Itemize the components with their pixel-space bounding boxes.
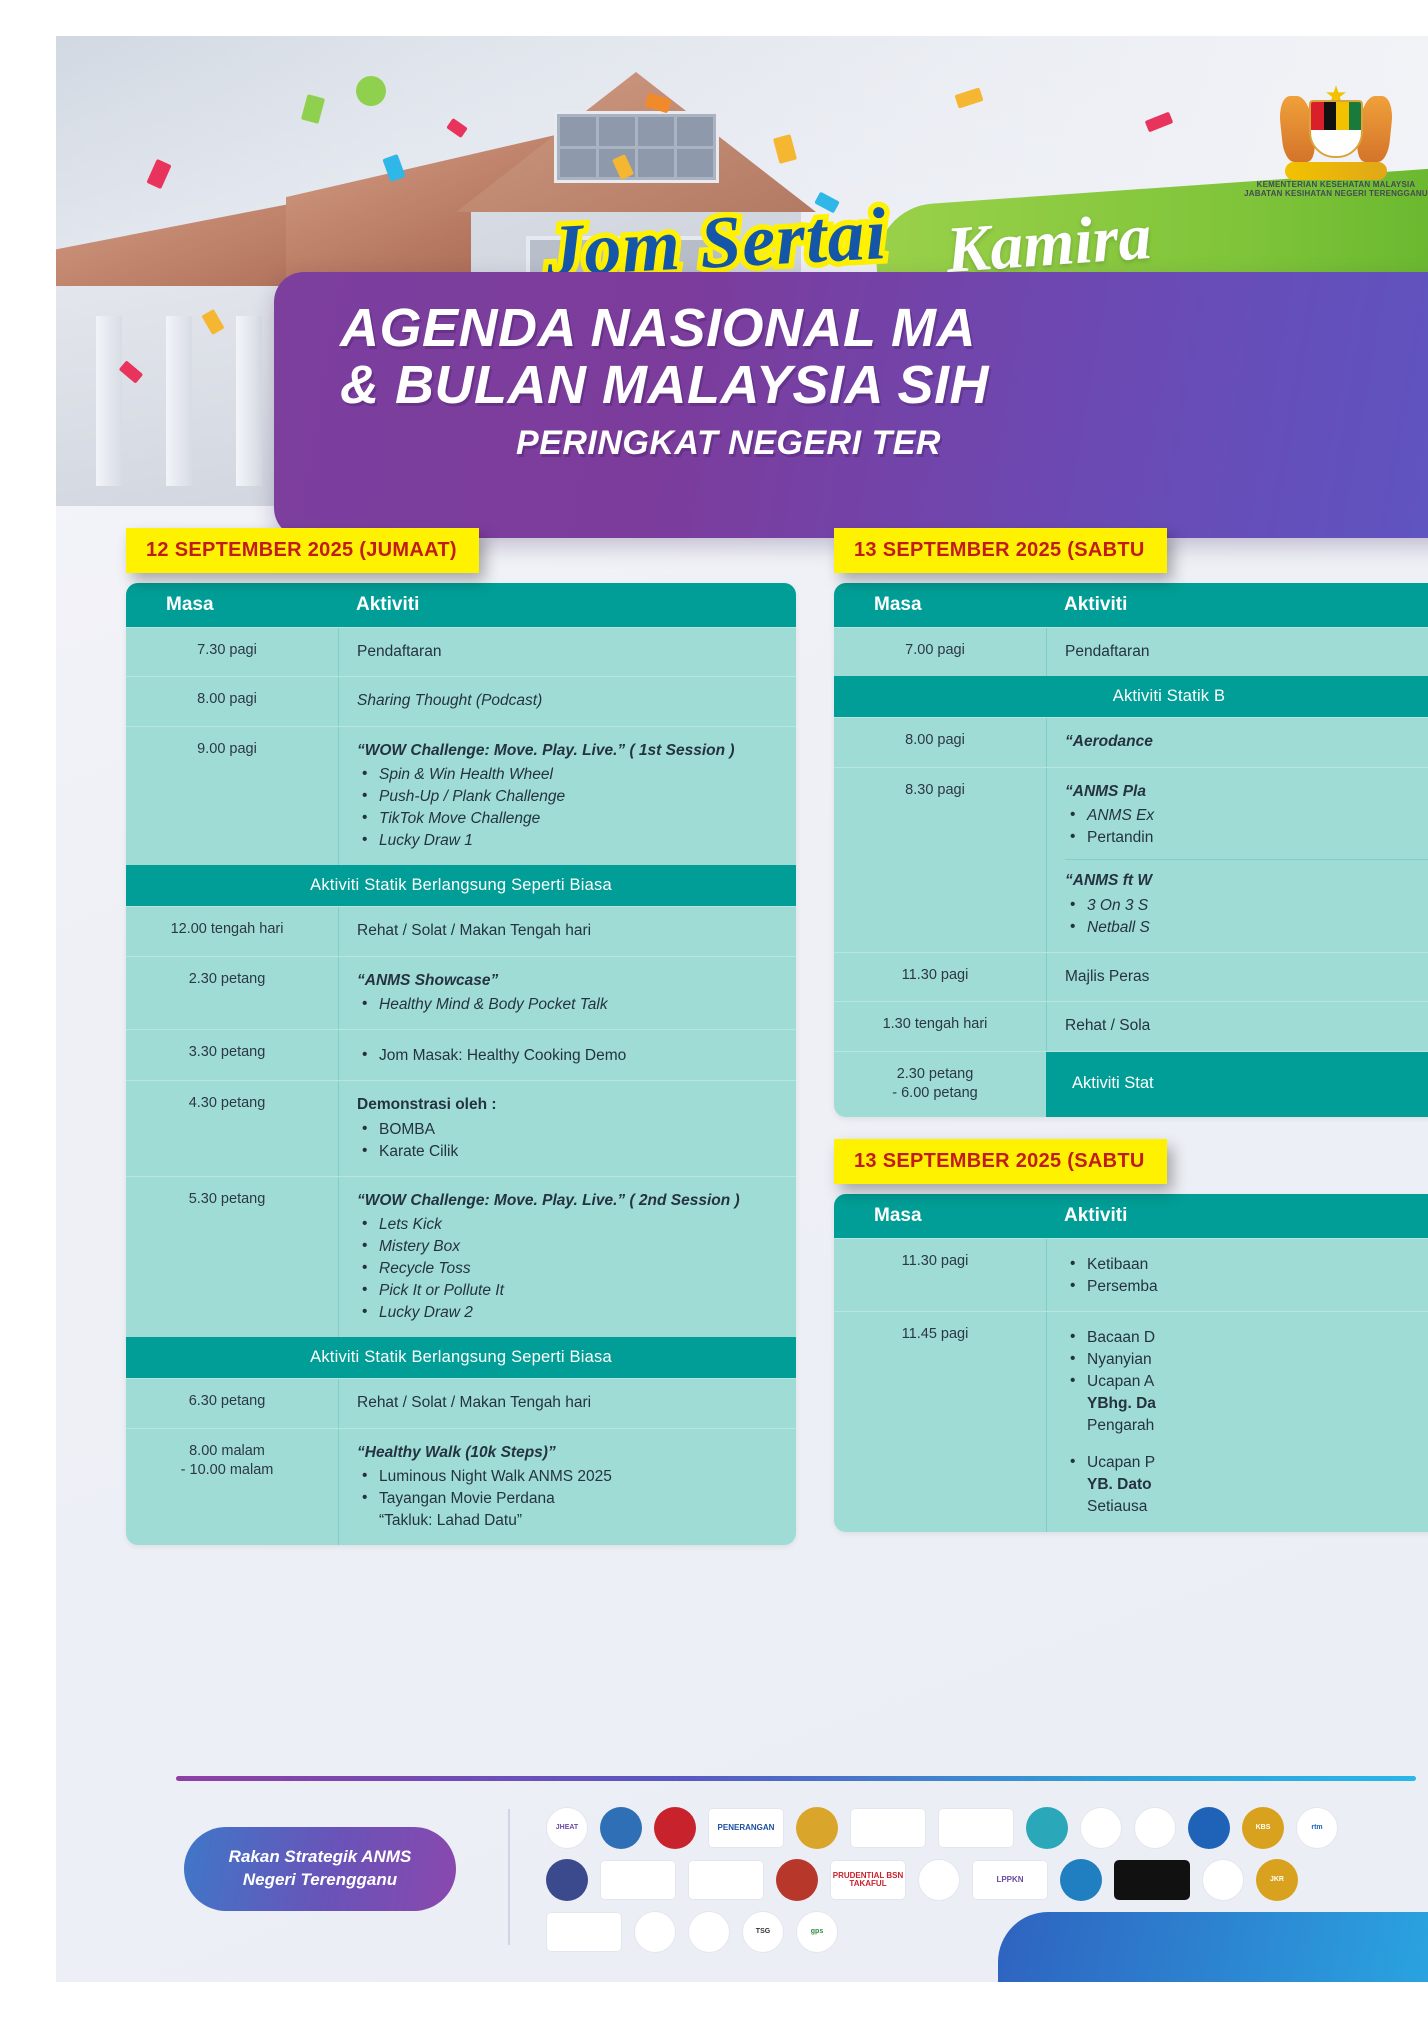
confetti-piece [954, 87, 983, 108]
cell-time: 1.30 tengah hari [834, 1002, 1046, 1050]
confetti-piece [146, 159, 171, 189]
list-item: TikTok Move Challenge [357, 808, 782, 830]
cell-time: 7.00 pagi [834, 628, 1046, 676]
partners-label-line1: Rakan Strategik ANMS [229, 1847, 412, 1866]
cell-activity: “WOW Challenge: Move. Play. Live.” ( 2nd… [338, 1177, 796, 1337]
table-row: 11.45 pagi Bacaan D Nyanyian Ucapan A YB… [834, 1311, 1428, 1532]
blue-swirl-logo [1188, 1807, 1230, 1849]
table-row: 7.30 pagi Pendaftaran [126, 627, 796, 676]
jata-negara-icon: ★ [1277, 82, 1395, 180]
cell-time: 2.30 petang [126, 957, 338, 1029]
day2b-schedule-table: Masa Aktiviti 11.30 pagi Ketibaan Persem… [834, 1194, 1428, 1532]
column-header-activity: Aktiviti [1046, 1194, 1428, 1238]
jkm-logo [688, 1860, 764, 1900]
list-item: BOMBA [357, 1119, 782, 1141]
negeri-logo [600, 1807, 642, 1849]
cell-activity: “ANMS Showcase” Healthy Mind & Body Pock… [338, 957, 796, 1029]
tsg-logo: TSG [742, 1911, 784, 1953]
activity-title: Rehat / Solat / Makan Tengah hari [357, 922, 591, 939]
divider-line [1065, 859, 1428, 860]
event-title-line2: & BULAN MALAYSIA SIH [340, 357, 1428, 414]
activity-bullet-list: Jom Masak: Healthy Cooking Demo [357, 1045, 782, 1067]
cell-activity: Bacaan D Nyanyian Ucapan A YBhg. Da Peng… [1046, 1312, 1428, 1532]
cell-activity: Rehat / Solat / Makan Tengah hari [338, 907, 796, 955]
list-item: Lucky Draw 1 [357, 830, 782, 852]
list-item: Bacaan D [1065, 1327, 1428, 1349]
activity-title: Demonstrasi oleh : [357, 1094, 782, 1116]
list-item: Push-Up / Plank Challenge [357, 786, 782, 808]
cell-time: 8.00 pagi [126, 677, 338, 725]
cell-time: 8.00 pagi [834, 718, 1046, 766]
table-header-row: Masa Aktiviti [834, 1194, 1428, 1238]
list-item: Luminous Night Walk ANMS 2025 [357, 1466, 782, 1488]
ministry-name-line1: KEMENTERIAN KESEHATAN MALAYSIA [1236, 180, 1428, 189]
column-header-time: Masa [126, 583, 338, 627]
static-activity-band: Aktiviti Statik Berlangsung Seperti Bias… [126, 1337, 796, 1378]
red-crest-logo [654, 1807, 696, 1849]
activity-title: Majlis Peras [1065, 968, 1149, 985]
ministry-name-line2: JABATAN KESIHATAN NEGERI TERENGGANU [1236, 189, 1428, 198]
cell-time: 11.45 pagi [834, 1312, 1046, 1532]
table-row: 11.30 pagi Majlis Peras [834, 952, 1428, 1001]
cell-time: 9.00 pagi [126, 727, 338, 865]
gold-shield-logo [1202, 1859, 1244, 1901]
list-item: Nyanyian [1065, 1349, 1428, 1371]
table-header-row: Masa Aktiviti [834, 583, 1428, 627]
cell-activity: “ANMS Pla ANMS Ex Pertandin “ANMS ft W 3… [1046, 768, 1428, 952]
activity-bullet-list-secondary: 3 On 3 S Netball S [1065, 895, 1428, 939]
polis-logo [546, 1859, 588, 1901]
activity-bullet-list: Healthy Mind & Body Pocket Talk [357, 994, 782, 1016]
activity-bullet-list: BOMBA Karate Cilik [357, 1119, 782, 1163]
majlis-logo [1080, 1807, 1122, 1849]
list-item: Healthy Mind & Body Pocket Talk [357, 994, 782, 1016]
gps-logo: gps [796, 1911, 838, 1953]
list-item: ANMS Ex [1065, 805, 1428, 827]
footer-vertical-rule [508, 1809, 510, 1945]
table-row: 4.30 petang Demonstrasi oleh : BOMBA Kar… [126, 1080, 796, 1175]
cell-time: 8.30 pagi [834, 768, 1046, 952]
poster-root: Kamira Jom Sertai ★ KEMENTERIAN KESEHATA… [56, 36, 1428, 1982]
cell-activity: Pendaftaran [1046, 628, 1428, 676]
kbs-logo: KBS [1242, 1807, 1284, 1849]
jabatan-penerangan-logo: PENERANGAN [708, 1808, 784, 1848]
footer-divider [176, 1776, 1416, 1781]
cycling-logo [688, 1911, 730, 1953]
teal-ring-logo [1026, 1807, 1068, 1849]
activity-bullet-list-2: Ucapan P [1065, 1452, 1428, 1474]
gold-crest-logo [796, 1807, 838, 1849]
day2-schedule-table: Masa Aktiviti 7.00 pagi Pendaftaran Akti… [834, 583, 1428, 1117]
table-row: 6.30 petang Rehat / Solat / Makan Tengah… [126, 1378, 796, 1427]
cell-time: 3.30 petang [126, 1030, 338, 1080]
activity-title-secondary: “ANMS ft W [1065, 870, 1428, 892]
building-pillar [166, 316, 192, 486]
list-item: Lucky Draw 2 [357, 1302, 782, 1324]
column-header-activity: Aktiviti [1046, 583, 1428, 627]
cell-activity: Jom Masak: Healthy Cooking Demo [338, 1030, 796, 1080]
list-item: Recycle Toss [357, 1258, 782, 1280]
day1-schedule-table: Masa Aktiviti 7.30 pagi Pendaftaran 8.00… [126, 583, 796, 1545]
cell-activity: Rehat / Solat / Makan Tengah hari [338, 1379, 796, 1427]
cell-time: 11.30 pagi [834, 1239, 1046, 1311]
list-item: 3 On 3 S [1065, 895, 1428, 917]
cell-time: 7.30 pagi [126, 628, 338, 676]
event-title-line1: AGENDA NASIONAL MA [340, 300, 1428, 357]
cell-activity-band: Aktiviti Stat [1046, 1052, 1428, 1117]
table-row: 8.30 pagi “ANMS Pla ANMS Ex Pertandin “A… [834, 767, 1428, 952]
confetti-piece [301, 94, 325, 124]
list-item: Ucapan P [1065, 1452, 1428, 1474]
column-header-time: Masa [834, 583, 1046, 627]
partners-label-pill: Rakan Strategik ANMS Negeri Terengganu [184, 1827, 456, 1911]
activity-bullet-list: Ketibaan Persemba [1065, 1254, 1428, 1298]
arabic-black-logo [1114, 1860, 1190, 1900]
ribbon-icon [1285, 162, 1387, 180]
cell-activity: “Aerodance [1046, 718, 1428, 766]
day2b-date-chip: 13 SEPTEMBER 2025 (SABTU [834, 1139, 1167, 1184]
speaker-name-1: YBhg. Da [1087, 1393, 1428, 1415]
ministry-crest-block: ★ KEMENTERIAN KESEHATAN MALAYSIA JABATAN… [1236, 82, 1428, 198]
list-item: Pick It or Pollute It [357, 1280, 782, 1302]
speaker-title-2: Setiausa [1087, 1496, 1428, 1518]
confetti-piece [1145, 112, 1174, 133]
cell-activity: Ketibaan Persemba [1046, 1239, 1428, 1311]
jkr-logo: JKR [1256, 1859, 1298, 1901]
cell-time: 4.30 petang [126, 1081, 338, 1175]
activity-title: Rehat / Solat / Makan Tengah hari [357, 1394, 591, 1411]
column-header-time: Masa [834, 1194, 1046, 1238]
activity-title: “Aerodance [1065, 733, 1153, 750]
list-item: Netball S [1065, 917, 1428, 939]
activity-title: Rehat / Sola [1065, 1017, 1150, 1034]
table-row: 2.30 petang - 6.00 petang Aktiviti Stat [834, 1051, 1428, 1117]
activity-bullet-list: Luminous Night Walk ANMS 2025 Tayangan M… [357, 1466, 782, 1532]
bunga-logo [776, 1859, 818, 1901]
table-row: 12.00 tengah hari Rehat / Solat / Makan … [126, 906, 796, 955]
cell-activity: Majlis Peras [1046, 953, 1428, 1001]
partners-label-line2: Negeri Terengganu [243, 1870, 397, 1889]
activity-title: “ANMS Showcase” [357, 970, 782, 992]
activity-bullet-list: Bacaan D Nyanyian Ucapan A [1065, 1327, 1428, 1393]
table-row: 2.30 petang “ANMS Showcase” Healthy Mind… [126, 956, 796, 1029]
list-item: Spin & Win Health Wheel [357, 764, 782, 786]
building-window-grid [554, 111, 719, 183]
cell-time: 2.30 petang - 6.00 petang [834, 1052, 1046, 1117]
building-pillar [236, 316, 262, 486]
activity-title: Pendaftaran [1065, 643, 1149, 660]
list-item: Mistery Box [357, 1236, 782, 1258]
activity-title: “ANMS Pla [1065, 781, 1428, 803]
list-item: Persemba [1065, 1276, 1428, 1298]
day1-date-chip: 12 SEPTEMBER 2025 (JUMAAT) [126, 528, 479, 573]
blue-drop-logo [1060, 1859, 1102, 1901]
schedule-column-day2: 13 SEPTEMBER 2025 (SABTU Masa Aktiviti 7… [834, 528, 1428, 1532]
table-row: 7.00 pagi Pendaftaran [834, 627, 1428, 676]
cell-time: 12.00 tengah hari [126, 907, 338, 955]
activity-bullet-list: Lets Kick Mistery Box Recycle Toss Pick … [357, 1214, 782, 1324]
table-row: 8.00 malam - 10.00 malam “Healthy Walk (… [126, 1428, 796, 1545]
list-item: Tayangan Movie Perdana “Takluk: Lahad Da… [357, 1488, 782, 1532]
table-row: 8.00 pagi Sharing Thought (Podcast) [126, 676, 796, 725]
cell-activity: Pendaftaran [338, 628, 796, 676]
activity-title: “WOW Challenge: Move. Play. Live.” ( 1st… [357, 740, 782, 762]
jata-red-logo [546, 1912, 622, 1952]
cell-time: 5.30 petang [126, 1177, 338, 1337]
ear-logo [918, 1859, 960, 1901]
table-row: 9.00 pagi “WOW Challenge: Move. Play. Li… [126, 726, 796, 865]
speaker-name-2: YB. Dato [1087, 1474, 1428, 1496]
list-item: Lets Kick [357, 1214, 782, 1236]
prudential-bsn-logo: PRUDENTIAL BSN TAKAFUL [830, 1860, 906, 1900]
cell-time: 6.30 petang [126, 1379, 338, 1427]
table-row: 3.30 petang Jom Masak: Healthy Cooking D… [126, 1029, 796, 1080]
lppkn-logo: LPPKN [972, 1860, 1048, 1900]
cell-activity: Sharing Thought (Podcast) [338, 677, 796, 725]
confetti-piece [773, 134, 797, 164]
table-row: 5.30 petang “WOW Challenge: Move. Play. … [126, 1176, 796, 1337]
column-header-activity: Aktiviti [338, 583, 796, 627]
mpob-logo [600, 1860, 676, 1900]
activity-bullet-list: ANMS Ex Pertandin [1065, 805, 1428, 849]
cell-activity: “WOW Challenge: Move. Play. Live.” ( 1st… [338, 727, 796, 865]
schedule-columns: 12 SEPTEMBER 2025 (JUMAAT) Masa Aktiviti… [56, 528, 1428, 1708]
list-item: Ketibaan [1065, 1254, 1428, 1276]
jata-negara-logo [850, 1808, 926, 1848]
activity-title: “Healthy Walk (10k Steps)” [357, 1442, 782, 1464]
activity-title: Sharing Thought (Podcast) [357, 692, 542, 709]
activity-title: “WOW Challenge: Move. Play. Live.” ( 2nd… [357, 1190, 782, 1212]
static-activity-band: Aktiviti Statik B [834, 676, 1428, 717]
shield-icon [1309, 100, 1363, 158]
cell-activity: Demonstrasi oleh : BOMBA Karate Cilik [338, 1081, 796, 1175]
activity-bullet-list: Spin & Win Health Wheel Push-Up / Plank … [357, 764, 782, 852]
cell-time: 11.30 pagi [834, 953, 1046, 1001]
table-row: 1.30 tengah hari Rehat / Sola [834, 1001, 1428, 1050]
cell-time: 8.00 malam - 10.00 malam [126, 1429, 338, 1545]
blue-corner-accent [998, 1912, 1428, 1982]
cell-activity: “Healthy Walk (10k Steps)” Luminous Nigh… [338, 1429, 796, 1545]
cell-activity: Rehat / Sola [1046, 1002, 1428, 1050]
schedule-column-day1: 12 SEPTEMBER 2025 (JUMAAT) Masa Aktiviti… [126, 528, 796, 1545]
event-title-banner: AGENDA NASIONAL MA & BULAN MALAYSIA SIH … [274, 272, 1428, 538]
circle-gold-logo [634, 1911, 676, 1953]
confetti-piece [446, 118, 468, 138]
table-row: 8.00 pagi “Aerodance [834, 717, 1428, 766]
keris-logo [1134, 1807, 1176, 1849]
list-item: Pertandin [1065, 827, 1428, 849]
confetti-piece [356, 76, 386, 106]
building-pillar [96, 316, 122, 486]
activity-title: Pendaftaran [357, 643, 441, 660]
static-activity-band: Aktiviti Statik Berlangsung Seperti Bias… [126, 865, 796, 906]
table-row: 11.30 pagi Ketibaan Persemba [834, 1238, 1428, 1311]
institut-logo [938, 1808, 1014, 1848]
list-item: Ucapan A [1065, 1371, 1428, 1393]
jheat-logo: JHEAT [546, 1807, 588, 1849]
day2-date-chip: 13 SEPTEMBER 2025 (SABTU [834, 528, 1167, 573]
table-header-row: Masa Aktiviti [126, 583, 796, 627]
event-title-line3: PERINGKAT NEGERI TER [516, 424, 1428, 463]
rtm-logo: rtm [1296, 1807, 1338, 1849]
list-item: Jom Masak: Healthy Cooking Demo [357, 1045, 782, 1067]
list-item: Karate Cilik [357, 1141, 782, 1163]
speaker-title-1: Pengarah [1087, 1415, 1428, 1437]
